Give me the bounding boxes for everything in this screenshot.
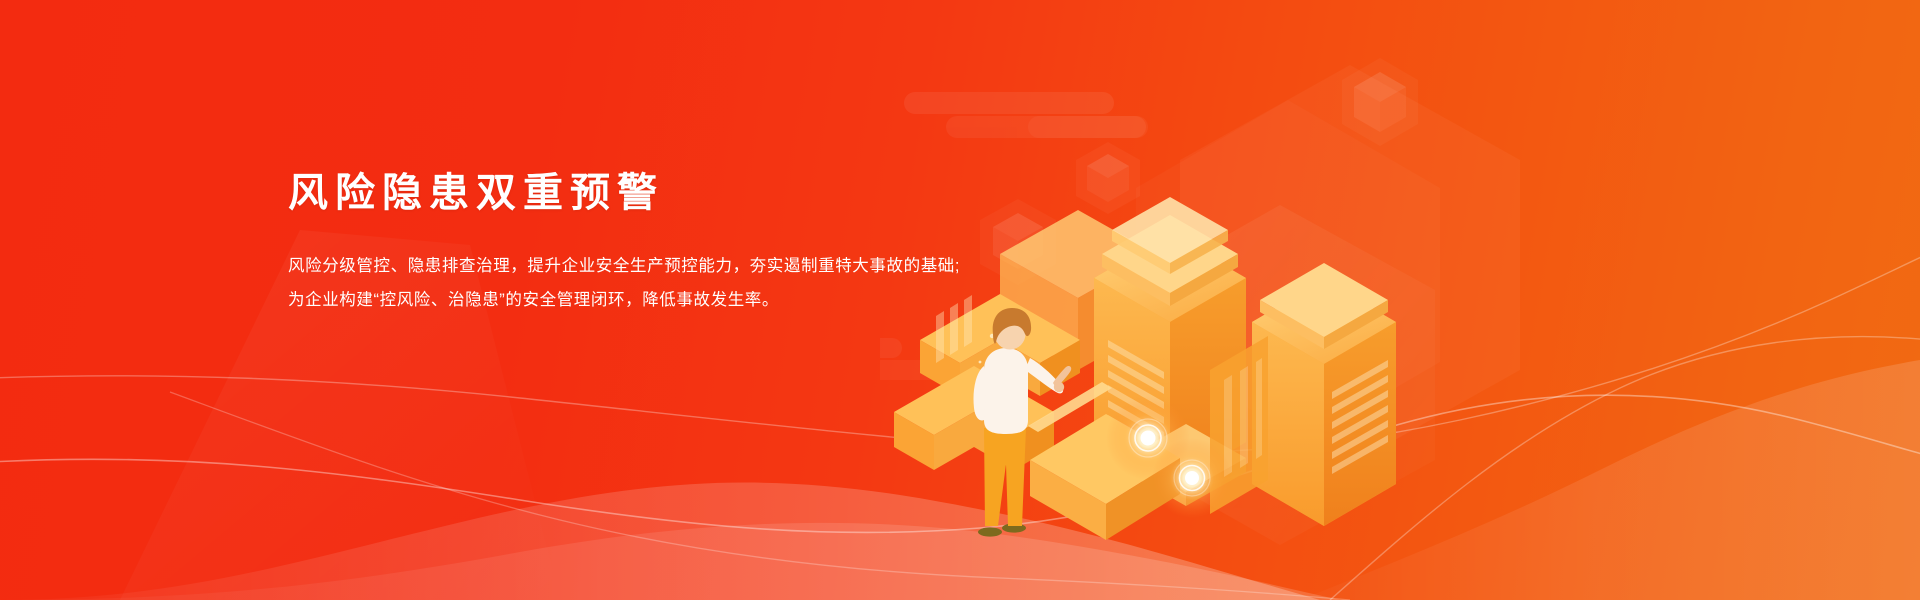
description-line-1: 风险分级管控、隐患排查治理，提升企业安全生产预控能力，夯实遏制重特大事故的基础; bbox=[288, 250, 988, 284]
person-hair bbox=[993, 308, 1031, 344]
isometric-illustration bbox=[880, 40, 1640, 560]
panel-tall bbox=[1210, 336, 1268, 514]
wave-line-d bbox=[1330, 337, 1920, 600]
page-title: 风险隐患双重预警 bbox=[288, 168, 988, 218]
wave-bottom-right bbox=[1300, 360, 1920, 600]
person-shoe-right bbox=[1002, 523, 1026, 532]
person-character bbox=[973, 308, 1071, 537]
tower-right bbox=[1252, 263, 1396, 526]
cube-hexagon-right bbox=[1342, 58, 1418, 146]
person-pants bbox=[984, 428, 1026, 526]
tower-right-vents bbox=[1332, 360, 1388, 474]
slab-stack-mid bbox=[1126, 424, 1246, 506]
glow-lower bbox=[1152, 438, 1232, 518]
cube-small bbox=[980, 199, 1056, 285]
glow-upper bbox=[1106, 396, 1190, 480]
person-head bbox=[995, 319, 1026, 350]
description-line-2: 为企业构建“控风险、治隐患”的安全管理闭环，降低事故发生率。 bbox=[288, 284, 988, 318]
sparkles bbox=[979, 325, 1022, 364]
person-arm-pointing bbox=[1025, 358, 1063, 393]
wave-line-c bbox=[170, 392, 1350, 600]
promo-banner: 风险隐患双重预警 风险分级管控、隐患排查治理，提升企业安全生产预控能力，夯实遏制… bbox=[0, 0, 1920, 600]
cloud-left bbox=[880, 338, 956, 380]
person-shirt bbox=[984, 348, 1028, 434]
tower-center-cap bbox=[1102, 197, 1238, 306]
tower-rear-left bbox=[1000, 210, 1156, 370]
person-arm-down bbox=[973, 366, 986, 421]
wave-bottom-left bbox=[0, 483, 1320, 600]
banner-text-block: 风险隐患双重预警 风险分级管控、隐患排查治理，提升企业安全生产预控能力，夯实遏制… bbox=[288, 168, 988, 318]
person-shoe-left bbox=[978, 527, 1002, 536]
person-hand bbox=[1053, 366, 1071, 388]
open-box bbox=[1028, 382, 1180, 540]
tower-center bbox=[1094, 197, 1246, 486]
tower-center-vents bbox=[1108, 340, 1164, 454]
cloud-top bbox=[904, 92, 1148, 138]
ghost-geometry bbox=[1130, 65, 1520, 545]
wave-bottom-left-2 bbox=[0, 523, 1340, 600]
chevron-block-left-lower bbox=[894, 366, 1054, 470]
cube-hexagon bbox=[1076, 142, 1140, 214]
banner-description: 风险分级管控、隐患排查治理，提升企业安全生产预控能力，夯实遏制重特大事故的基础;… bbox=[288, 250, 988, 318]
wave-line-a bbox=[0, 395, 1920, 532]
